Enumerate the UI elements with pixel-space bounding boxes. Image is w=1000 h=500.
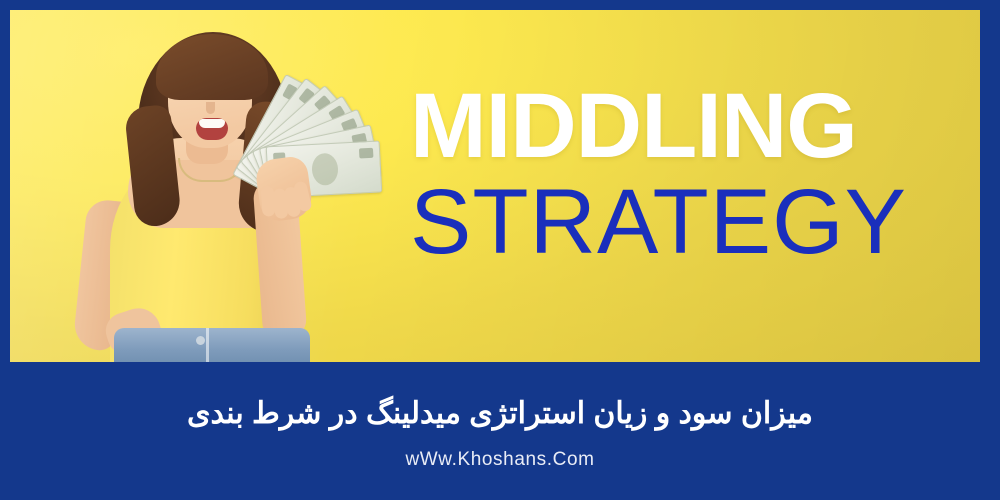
mouth — [196, 118, 228, 140]
caption-bar: میزان سود و زیان استراتژی میدلینگ در شرط… — [0, 362, 1000, 500]
hero-panel: MIDDLING STRATEGY — [10, 10, 980, 362]
website-url[interactable]: wWw.Khoshans.Com — [405, 449, 594, 471]
nose — [206, 102, 215, 114]
model-photo — [10, 10, 410, 362]
title-main: MIDDLING — [410, 82, 950, 170]
caption-persian: میزان سود و زیان استراتژی میدلینگ در شرط… — [187, 396, 813, 431]
denim-seam — [206, 328, 209, 362]
promo-banner: MIDDLING STRATEGY میزان سود و زیان استرا… — [0, 0, 1000, 500]
title-sub: STRATEGY — [410, 176, 950, 270]
headline-block: MIDDLING STRATEGY — [410, 82, 950, 270]
denim-shorts — [114, 328, 310, 362]
teeth — [199, 119, 225, 128]
denim-button — [196, 336, 205, 345]
